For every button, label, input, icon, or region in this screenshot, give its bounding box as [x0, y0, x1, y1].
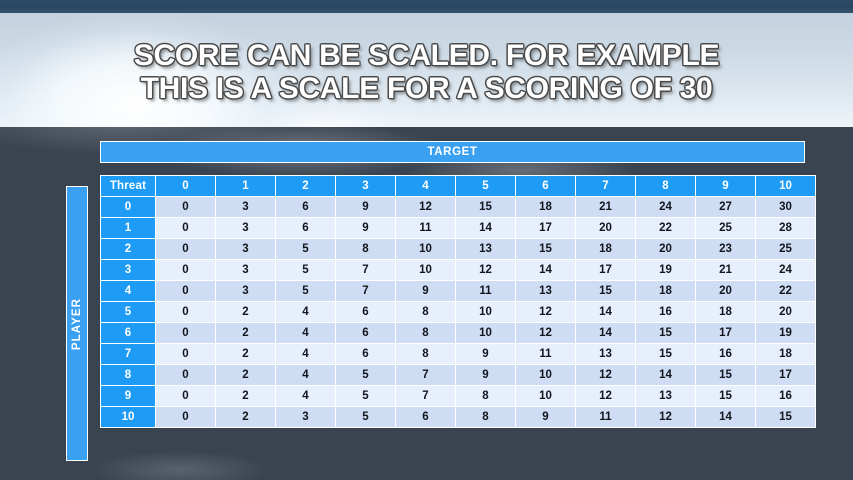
matrix-row: 403579111315182022 [101, 281, 815, 301]
matrix-cell-r2-c8: 20 [636, 239, 695, 259]
matrix-cell-r2-c0: 0 [156, 239, 215, 259]
matrix-cell-r6-c2: 4 [276, 323, 335, 343]
matrix-cell-r10-c10: 15 [756, 407, 815, 427]
matrix-row-header-6: 6 [101, 323, 155, 343]
matrix-row: 1036911141720222528 [101, 218, 815, 238]
matrix-cell-r5-c3: 6 [336, 302, 395, 322]
matrix-cell-r0-c7: 21 [576, 197, 635, 217]
matrix-row-header-1: 1 [101, 218, 155, 238]
matrix-cell-r8-c7: 12 [576, 365, 635, 385]
matrix-cell-r5-c9: 18 [696, 302, 755, 322]
matrix-cell-r4-c4: 9 [396, 281, 455, 301]
matrix-row-header-3: 3 [101, 260, 155, 280]
matrix-cell-r4-c5: 11 [456, 281, 515, 301]
matrix-cell-r8-c5: 9 [456, 365, 515, 385]
matrix-cell-r1-c8: 22 [636, 218, 695, 238]
matrix-cell-r5-c1: 2 [216, 302, 275, 322]
matrix-cell-r0-c1: 3 [216, 197, 275, 217]
matrix-cell-r5-c6: 12 [516, 302, 575, 322]
matrix-cell-r9-c3: 5 [336, 386, 395, 406]
matrix-cell-r4-c7: 15 [576, 281, 635, 301]
matrix-cell-r10-c9: 14 [696, 407, 755, 427]
matrix-cell-r2-c7: 18 [576, 239, 635, 259]
matrix-cell-r9-c4: 7 [396, 386, 455, 406]
matrix-cell-r8-c3: 5 [336, 365, 395, 385]
matrix-cell-r9-c8: 13 [636, 386, 695, 406]
matrix-cell-r4-c1: 3 [216, 281, 275, 301]
matrix-cell-r10-c7: 11 [576, 407, 635, 427]
matrix-column-header-7: 7 [576, 176, 635, 196]
matrix-cell-r0-c9: 27 [696, 197, 755, 217]
matrix-cell-r8-c2: 4 [276, 365, 335, 385]
matrix-header-row: Threat012345678910 [101, 176, 815, 196]
matrix-row: 70246891113151618 [101, 344, 815, 364]
matrix-cell-r10-c1: 2 [216, 407, 275, 427]
matrix-cell-r6-c6: 12 [516, 323, 575, 343]
matrix-row: 80245791012141517 [101, 365, 815, 385]
matrix-cell-r5-c2: 4 [276, 302, 335, 322]
matrix-cell-r9-c10: 16 [756, 386, 815, 406]
matrix-column-header-1: 1 [216, 176, 275, 196]
matrix-cell-r6-c8: 15 [636, 323, 695, 343]
matrix-cell-r4-c10: 22 [756, 281, 815, 301]
matrix-cell-r1-c0: 0 [156, 218, 215, 238]
matrix-cell-r3-c4: 10 [396, 260, 455, 280]
matrix-cell-r10-c6: 9 [516, 407, 575, 427]
matrix-cell-r4-c9: 20 [696, 281, 755, 301]
matrix-column-header-5: 5 [456, 176, 515, 196]
matrix-cell-r0-c3: 9 [336, 197, 395, 217]
matrix-cell-r3-c7: 17 [576, 260, 635, 280]
matrix-cell-r0-c0: 0 [156, 197, 215, 217]
matrix-cell-r6-c0: 0 [156, 323, 215, 343]
matrix-cell-r8-c9: 15 [696, 365, 755, 385]
matrix-column-header-0: 0 [156, 176, 215, 196]
matrix-row-header-2: 2 [101, 239, 155, 259]
matrix-cell-r1-c9: 25 [696, 218, 755, 238]
matrix-cell-r10-c2: 3 [276, 407, 335, 427]
matrix-cell-r5-c10: 20 [756, 302, 815, 322]
matrix-cell-r9-c7: 12 [576, 386, 635, 406]
matrix-cell-r7-c10: 18 [756, 344, 815, 364]
matrix-cell-r10-c0: 0 [156, 407, 215, 427]
matrix-cell-r3-c1: 3 [216, 260, 275, 280]
matrix-cell-r7-c9: 16 [696, 344, 755, 364]
matrix-cell-r2-c9: 23 [696, 239, 755, 259]
matrix-cell-r10-c5: 8 [456, 407, 515, 427]
matrix-cell-r1-c2: 6 [276, 218, 335, 238]
player-axis-label-text: PLAYER [71, 297, 83, 349]
matrix-row: 3035710121417192124 [101, 260, 815, 280]
matrix-cell-r0-c2: 6 [276, 197, 335, 217]
score-matrix-container: Threat012345678910 003691215182124273010… [100, 175, 805, 428]
matrix-row: 502468101214161820 [101, 302, 815, 322]
matrix-cell-r6-c3: 6 [336, 323, 395, 343]
matrix-cell-r10-c3: 5 [336, 407, 395, 427]
matrix-cell-r2-c4: 10 [396, 239, 455, 259]
matrix-cell-r6-c7: 14 [576, 323, 635, 343]
matrix-row-header-4: 4 [101, 281, 155, 301]
matrix-cell-r3-c3: 7 [336, 260, 395, 280]
matrix-column-header-2: 2 [276, 176, 335, 196]
matrix-cell-r10-c4: 6 [396, 407, 455, 427]
matrix-cell-r4-c0: 0 [156, 281, 215, 301]
matrix-cell-r7-c0: 0 [156, 344, 215, 364]
matrix-cell-r1-c4: 11 [396, 218, 455, 238]
matrix-cell-r2-c3: 8 [336, 239, 395, 259]
score-matrix-table: Threat012345678910 003691215182124273010… [100, 175, 816, 428]
matrix-cell-r0-c10: 30 [756, 197, 815, 217]
matrix-cell-r1-c1: 3 [216, 218, 275, 238]
matrix-cell-r1-c10: 28 [756, 218, 815, 238]
matrix-cell-r4-c2: 5 [276, 281, 335, 301]
matrix-cell-r9-c1: 2 [216, 386, 275, 406]
matrix-cell-r0-c5: 15 [456, 197, 515, 217]
top-navy-strip [0, 0, 853, 13]
matrix-cell-r10-c8: 12 [636, 407, 695, 427]
matrix-header: Threat012345678910 [101, 176, 815, 196]
matrix-row-header-8: 8 [101, 365, 155, 385]
matrix-row-header-5: 5 [101, 302, 155, 322]
matrix-cell-r3-c0: 0 [156, 260, 215, 280]
title-band: SCORE CAN BE SCALED. FOR EXAMPLE THIS IS… [0, 13, 853, 127]
matrix-cell-r8-c10: 17 [756, 365, 815, 385]
matrix-column-header-8: 8 [636, 176, 695, 196]
matrix-cell-r0-c8: 24 [636, 197, 695, 217]
matrix-cell-r5-c5: 10 [456, 302, 515, 322]
matrix-cell-r7-c6: 11 [516, 344, 575, 364]
matrix-cell-r6-c5: 10 [456, 323, 515, 343]
target-axis-label-text: TARGET [427, 146, 477, 158]
matrix-cell-r3-c8: 19 [636, 260, 695, 280]
matrix-row: 90245781012131516 [101, 386, 815, 406]
matrix-cell-r8-c8: 14 [636, 365, 695, 385]
matrix-row-header-10: 10 [101, 407, 155, 427]
matrix-cell-r7-c5: 9 [456, 344, 515, 364]
matrix-row: 602468101214151719 [101, 323, 815, 343]
matrix-cell-r3-c9: 21 [696, 260, 755, 280]
matrix-cell-r4-c3: 7 [336, 281, 395, 301]
matrix-row: 10023568911121415 [101, 407, 815, 427]
matrix-cell-r6-c9: 17 [696, 323, 755, 343]
target-axis-label: TARGET [100, 141, 805, 163]
matrix-cell-r3-c2: 5 [276, 260, 335, 280]
matrix-cell-r6-c10: 19 [756, 323, 815, 343]
matrix-row: 0036912151821242730 [101, 197, 815, 217]
matrix-cell-r3-c6: 14 [516, 260, 575, 280]
matrix-cell-r2-c1: 3 [216, 239, 275, 259]
matrix-column-header-3: 3 [336, 176, 395, 196]
matrix-cell-r0-c4: 12 [396, 197, 455, 217]
matrix-cell-r6-c1: 2 [216, 323, 275, 343]
player-axis-label: PLAYER [66, 186, 88, 461]
matrix-cell-r8-c0: 0 [156, 365, 215, 385]
matrix-cell-r2-c10: 25 [756, 239, 815, 259]
matrix-cell-r9-c5: 8 [456, 386, 515, 406]
matrix-corner-header: Threat [101, 176, 155, 196]
matrix-cell-r4-c6: 13 [516, 281, 575, 301]
matrix-cell-r8-c1: 2 [216, 365, 275, 385]
matrix-cell-r2-c5: 13 [456, 239, 515, 259]
matrix-cell-r7-c3: 6 [336, 344, 395, 364]
matrix-column-header-10: 10 [756, 176, 815, 196]
matrix-body: 0036912151821242730103691114172022252820… [101, 197, 815, 427]
matrix-cell-r7-c1: 2 [216, 344, 275, 364]
matrix-cell-r4-c8: 18 [636, 281, 695, 301]
matrix-cell-r2-c6: 15 [516, 239, 575, 259]
matrix-cell-r7-c2: 4 [276, 344, 335, 364]
matrix-column-header-4: 4 [396, 176, 455, 196]
matrix-cell-r9-c9: 15 [696, 386, 755, 406]
matrix-cell-r9-c6: 10 [516, 386, 575, 406]
matrix-column-header-6: 6 [516, 176, 575, 196]
matrix-cell-r5-c7: 14 [576, 302, 635, 322]
matrix-cell-r7-c8: 15 [636, 344, 695, 364]
matrix-cell-r9-c0: 0 [156, 386, 215, 406]
matrix-cell-r5-c0: 0 [156, 302, 215, 322]
matrix-cell-r7-c4: 8 [396, 344, 455, 364]
matrix-cell-r3-c5: 12 [456, 260, 515, 280]
matrix-cell-r5-c4: 8 [396, 302, 455, 322]
matrix-cell-r5-c8: 16 [636, 302, 695, 322]
matrix-cell-r8-c4: 7 [396, 365, 455, 385]
matrix-cell-r0-c6: 18 [516, 197, 575, 217]
matrix-row-header-7: 7 [101, 344, 155, 364]
matrix-cell-r1-c6: 17 [516, 218, 575, 238]
matrix-column-header-9: 9 [696, 176, 755, 196]
matrix-cell-r3-c10: 24 [756, 260, 815, 280]
matrix-cell-r2-c2: 5 [276, 239, 335, 259]
matrix-row-header-0: 0 [101, 197, 155, 217]
matrix-cell-r6-c4: 8 [396, 323, 455, 343]
matrix-cell-r9-c2: 4 [276, 386, 335, 406]
matrix-cell-r1-c7: 20 [576, 218, 635, 238]
matrix-cell-r1-c3: 9 [336, 218, 395, 238]
matrix-row: 2035810131518202325 [101, 239, 815, 259]
matrix-cell-r7-c7: 13 [576, 344, 635, 364]
matrix-cell-r1-c5: 14 [456, 218, 515, 238]
slide-canvas: SCORE CAN BE SCALED. FOR EXAMPLE THIS IS… [0, 0, 853, 480]
page-title: SCORE CAN BE SCALED. FOR EXAMPLE THIS IS… [0, 39, 853, 105]
matrix-row-header-9: 9 [101, 386, 155, 406]
matrix-cell-r8-c6: 10 [516, 365, 575, 385]
